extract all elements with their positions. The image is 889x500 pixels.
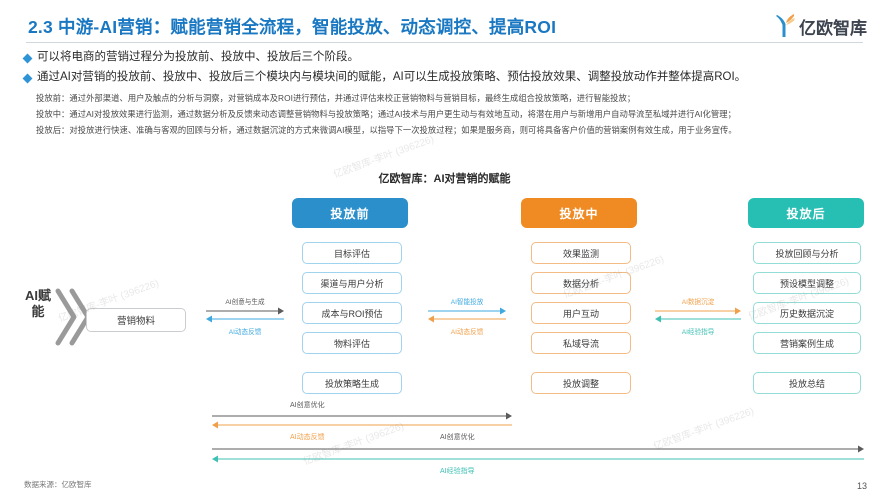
logo-text: 亿欧智库 bbox=[799, 14, 867, 39]
brand-logo: 亿欧智库 bbox=[775, 13, 867, 39]
arrow-forward-label: AI创意与生成 bbox=[206, 296, 284, 306]
connector-arrow-pair-1: AI创意与生成 AI动态反馈 bbox=[206, 296, 284, 336]
bottom-arrow-back-label: AI经验指导 bbox=[440, 466, 475, 476]
node-pre-1[interactable]: 渠道与用户分析 bbox=[302, 272, 402, 294]
arrow-back-label: AI动态反馈 bbox=[428, 326, 506, 336]
node-post-1[interactable]: 预设模型调整 bbox=[753, 272, 861, 294]
yiou-leaf-logo-icon bbox=[775, 13, 796, 39]
arrow-back-label: AI经验指导 bbox=[655, 326, 741, 336]
paragraph-block: 投放前：通过外部渠道、用户及触点的分析与洞察，对营销成本及ROI进行预估，并通过… bbox=[36, 90, 881, 138]
node-mid-1[interactable]: 数据分析 bbox=[531, 272, 631, 294]
node-mid-2[interactable]: 用户互动 bbox=[531, 302, 631, 324]
node-pre-0[interactable]: 目标评估 bbox=[302, 242, 402, 264]
connector-arrow-pair-2: AI智能投放 AI动态反馈 bbox=[428, 296, 506, 336]
bullet-item: 可以将电商的营销过程分为投放前、投放中、投放后三个阶段。 bbox=[24, 50, 874, 65]
page-number: 13 bbox=[857, 481, 867, 491]
bidirectional-arrow-icon bbox=[655, 307, 741, 325]
paragraph-line: 投放后：对投放进行快速、准确与客观的回顾与分析，通过数据沉淀的方式来微调AI模型… bbox=[36, 122, 881, 138]
header-divider bbox=[26, 42, 863, 43]
bullet-item: 通过AI对营销的投放前、投放中、投放后三个模块内与模块间的赋能，AI可以生成投放… bbox=[24, 70, 874, 85]
column-header-pre[interactable]: 投放前 bbox=[292, 198, 408, 228]
paragraph-line: 投放中：通过AI对投放效果进行监测，通过数据分析及反馈来动态调整营销物料与投放策… bbox=[36, 106, 881, 122]
bidirectional-arrow-icon bbox=[428, 307, 506, 325]
node-post-4[interactable]: 投放总结 bbox=[753, 372, 861, 394]
arrow-back-label: AI动态反馈 bbox=[206, 326, 284, 336]
bullet-text: 通过AI对营销的投放前、投放中、投放后三个模块内与模块间的赋能，AI可以生成投放… bbox=[37, 70, 746, 85]
bidirectional-long-arrow-icon bbox=[212, 445, 864, 467]
bidirectional-arrow-icon bbox=[206, 307, 284, 325]
column-header-mid[interactable]: 投放中 bbox=[521, 198, 637, 228]
node-pre-4[interactable]: 投放策略生成 bbox=[302, 372, 402, 394]
node-pre-2[interactable]: 成本与ROI预估 bbox=[302, 302, 402, 324]
node-post-2[interactable]: 历史数据沉淀 bbox=[753, 302, 861, 324]
bottom-arrow-group-2: AI创意优化 AI经验指导 bbox=[212, 432, 864, 474]
connector-arrow-pair-3: AI数据沉淀 AI经验指导 bbox=[655, 296, 741, 336]
column-header-post[interactable]: 投放后 bbox=[748, 198, 864, 228]
node-mid-3[interactable]: 私域导流 bbox=[531, 332, 631, 354]
diamond-bullet-icon bbox=[23, 74, 33, 84]
node-mid-0[interactable]: 效果监测 bbox=[531, 242, 631, 264]
bottom-arrow-forward-label: AI创意优化 bbox=[440, 432, 475, 442]
node-post-3[interactable]: 营销案例生成 bbox=[753, 332, 861, 354]
data-source-note: 数据来源：亿欧智库 bbox=[24, 479, 92, 490]
bottom-arrow-forward-label: AI创意优化 bbox=[290, 400, 325, 410]
marketing-material-node[interactable]: 营销物料 bbox=[86, 308, 186, 332]
page-title: 2.3 中游-AI营销：赋能营销全流程，智能投放、动态调控、提高ROI bbox=[28, 14, 556, 39]
diamond-bullet-icon bbox=[23, 54, 33, 64]
bullet-text: 可以将电商的营销过程分为投放前、投放中、投放后三个阶段。 bbox=[37, 50, 359, 65]
node-post-0[interactable]: 投放回顾与分析 bbox=[753, 242, 861, 264]
arrow-forward-label: AI智能投放 bbox=[428, 296, 506, 306]
arrow-forward-label: AI数据沉淀 bbox=[655, 296, 741, 306]
ai-empowerment-label: AI赋能 bbox=[25, 288, 51, 320]
bidirectional-long-arrow-icon bbox=[212, 412, 512, 434]
node-pre-3[interactable]: 物料评估 bbox=[302, 332, 402, 354]
node-mid-4[interactable]: 投放调整 bbox=[531, 372, 631, 394]
chart-title: 亿欧智库：AI对营销的赋能 bbox=[0, 170, 889, 186]
paragraph-line: 投放前：通过外部渠道、用户及触点的分析与洞察，对营销成本及ROI进行预估，并通过… bbox=[36, 90, 881, 106]
